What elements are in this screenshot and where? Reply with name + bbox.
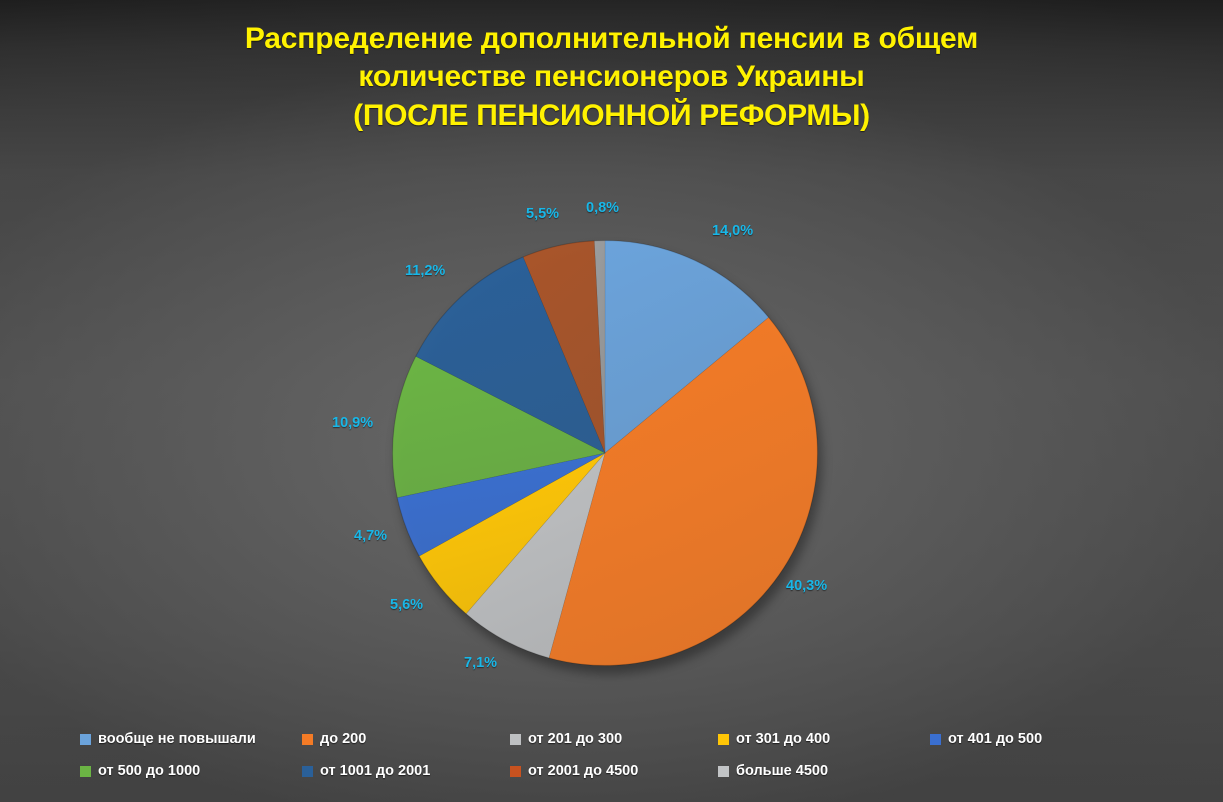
legend-swatch-icon xyxy=(80,734,91,745)
chart-title-line-1: Распределение дополнительной пенсии в об… xyxy=(0,20,1223,58)
pie-data-label: 0,8% xyxy=(586,200,619,216)
legend-swatch-icon xyxy=(302,734,313,745)
legend-swatch-icon xyxy=(80,766,91,777)
pie-chart xyxy=(392,240,818,666)
plot-area: 14,0%40,3%7,1%5,6%4,7%10,9%11,2%5,5%0,8% xyxy=(0,175,1223,705)
legend-item-label: от 301 до 400 xyxy=(736,731,830,747)
pie-data-label: 7,1% xyxy=(464,655,497,671)
chart-title-line-2: количестве пенсионеров Украины xyxy=(0,58,1223,96)
legend-item-label: от 201 до 300 xyxy=(528,731,622,747)
legend-item-label: от 500 до 1000 xyxy=(98,763,200,779)
legend-item[interactable]: от 500 до 1000 xyxy=(80,758,200,784)
legend-item-label: вообще не повышали xyxy=(98,731,256,747)
legend-item[interactable]: до 200 xyxy=(302,726,366,752)
legend-row-2: от 500 до 1000от 1001 до 2001от 2001 до … xyxy=(0,758,1223,784)
legend-item-label: до 200 xyxy=(320,731,366,747)
pie-data-label: 14,0% xyxy=(712,223,753,239)
legend-item-label: от 401 до 500 xyxy=(948,731,1042,747)
pie-slices xyxy=(392,240,818,666)
chart-title: Распределение дополнительной пенсии в об… xyxy=(0,20,1223,135)
chart-legend: вообще не повышалидо 200от 201 до 300от … xyxy=(0,726,1223,790)
legend-item[interactable]: от 201 до 300 xyxy=(510,726,622,752)
legend-row-1: вообще не повышалидо 200от 201 до 300от … xyxy=(0,726,1223,752)
legend-item[interactable]: вообще не повышали xyxy=(80,726,256,752)
legend-item[interactable]: от 401 до 500 xyxy=(930,726,1042,752)
legend-swatch-icon xyxy=(718,766,729,777)
pie-data-label: 10,9% xyxy=(332,415,373,431)
legend-swatch-icon xyxy=(510,766,521,777)
legend-swatch-icon xyxy=(302,766,313,777)
chart-canvas: Распределение дополнительной пенсии в об… xyxy=(0,0,1223,802)
chart-title-line-3: (ПОСЛЕ ПЕНСИОННОЙ РЕФОРМЫ) xyxy=(0,97,1223,135)
legend-swatch-icon xyxy=(718,734,729,745)
legend-item-label: от 1001 до 2001 xyxy=(320,763,430,779)
legend-swatch-icon xyxy=(930,734,941,745)
pie-data-label: 40,3% xyxy=(786,578,827,594)
legend-item[interactable]: от 2001 до 4500 xyxy=(510,758,638,784)
legend-swatch-icon xyxy=(510,734,521,745)
legend-item[interactable]: от 1001 до 2001 xyxy=(302,758,430,784)
pie-data-label: 5,6% xyxy=(390,597,423,613)
legend-item-label: от 2001 до 4500 xyxy=(528,763,638,779)
pie-data-label: 5,5% xyxy=(526,206,559,222)
legend-item[interactable]: от 301 до 400 xyxy=(718,726,830,752)
legend-item[interactable]: больше 4500 xyxy=(718,758,828,784)
legend-item-label: больше 4500 xyxy=(736,763,828,779)
pie-data-label: 4,7% xyxy=(354,528,387,544)
pie-data-label: 11,2% xyxy=(405,263,445,279)
